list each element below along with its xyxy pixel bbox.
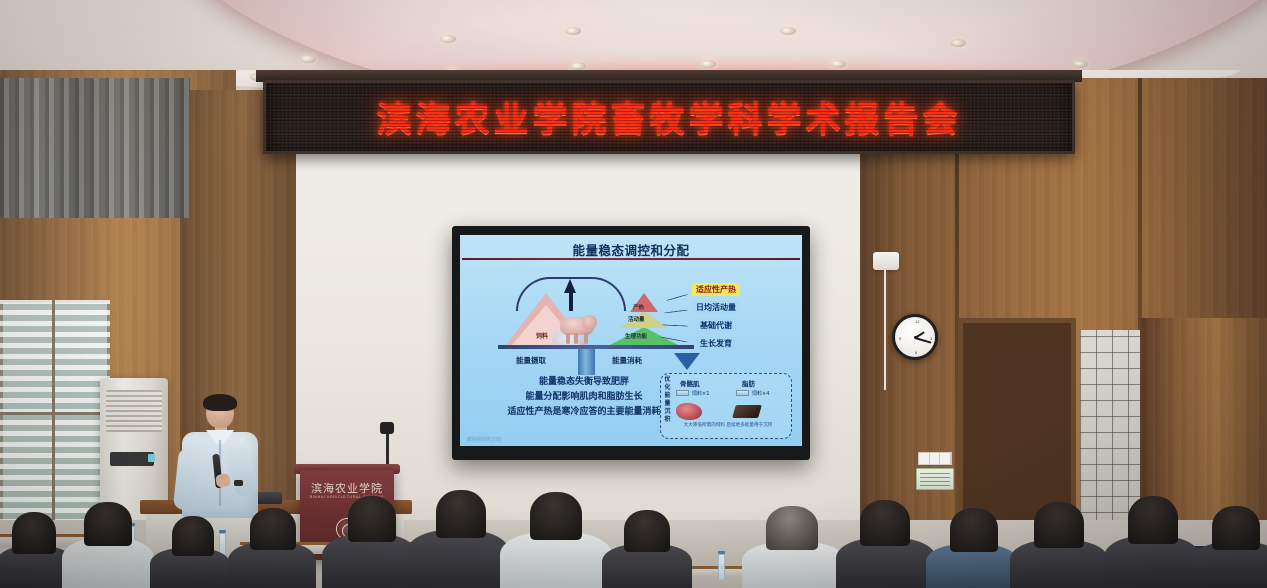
meat-cut-icon <box>676 403 702 420</box>
downlight-icon <box>570 62 586 70</box>
downlight-icon <box>780 27 796 35</box>
pig-illustration-icon <box>552 311 600 345</box>
deposition-cost-fat: 饲料×4 <box>752 390 769 397</box>
led-banner: 滨海农业学院畜牧学科学术报告会 <box>263 80 1075 154</box>
slide-title: 能量稳态调控和分配 <box>460 240 802 259</box>
door-right[interactable] <box>1140 318 1267 550</box>
down-arrow-icon <box>674 353 700 370</box>
equipment-door-frame <box>958 318 1076 550</box>
pyramid-label-middle: 活动量 <box>628 315 645 323</box>
light-switch-panel[interactable] <box>918 452 952 465</box>
factor-label-adaptive-thermogenesis: 适应性产热 <box>692 283 740 296</box>
stage-curtain <box>0 78 190 218</box>
factor-label-basal-metabolism: 基础代谢 <box>696 319 736 332</box>
podium-subtitle: BINHAI AGRICULTURAL COLLEGE <box>300 495 394 499</box>
factor-label-growth-development: 生长发育 <box>696 337 736 350</box>
wall-clock-icon: 12 3 6 9 <box>892 314 938 360</box>
fat-block-icon <box>732 405 762 418</box>
balance-beam <box>498 345 694 349</box>
clock-tick-6: 6 <box>915 350 917 355</box>
downlight-icon <box>440 35 456 43</box>
smoke-detector-icon <box>873 252 899 270</box>
ac-display-icon <box>148 454 155 462</box>
presenter-hair <box>203 394 237 411</box>
energy-intake-label: 能量摄取 <box>516 355 546 366</box>
downlight-icon <box>950 39 966 47</box>
clock-tick-9: 9 <box>899 336 901 341</box>
led-banner-text: 滨海农业学院畜牧学科学术报告会 <box>266 92 1072 143</box>
feed-triangle-label: 饲料 <box>536 331 548 340</box>
detector-cable <box>884 270 886 390</box>
slide-bullets: 能量稳态失衡导致肥胖 能量分配影响肌肉和脂肪生长 适应性产热是寒冷应答的主要能量… <box>484 375 684 420</box>
deposition-note: 大大降低所需的饲料 后续更多能量用于沉积 <box>670 423 786 429</box>
clock-center-pin <box>914 336 917 339</box>
deposition-heading-fat: 脂肪 <box>742 378 755 388</box>
wristwatch-icon <box>234 480 243 486</box>
downlight-icon <box>1072 60 1088 68</box>
downlight-icon <box>565 27 581 35</box>
slide-title-rule <box>462 258 800 260</box>
bullet-line: 适应性产热是寒冷应答的主要能量消耗 <box>484 405 684 420</box>
connector-line <box>666 294 687 301</box>
pyramid-label-bottom: 生理功能 <box>625 332 647 340</box>
window-blinds <box>0 300 110 535</box>
podium: 滨海农业学院 BINHAI AGRICULTURAL COLLEGE <box>300 470 394 560</box>
deposition-cost-muscle: 饲料×1 <box>692 390 709 397</box>
pyramid-label-top: 产热 <box>633 303 644 311</box>
tiled-wall-panel <box>1080 330 1140 545</box>
downlight-icon <box>700 60 716 68</box>
feed-chip-icon <box>736 390 749 396</box>
deposition-vertical-label: 优化能量沉积 <box>663 376 672 424</box>
bullet-line: 能量分配影响肌肉和脂肪生长 <box>484 390 684 405</box>
podium-name: 滨海农业学院 <box>300 480 394 496</box>
lecture-hall-photo: 滨海农业学院畜牧学科学术报告会 能量稳态调控和分配 饲料 <box>0 0 1267 588</box>
factor-label-daily-activity: 日均活动量 <box>692 301 740 314</box>
deposition-heading-muscle: 骨骼肌 <box>680 378 700 388</box>
clock-tick-3: 3 <box>930 336 932 341</box>
presenter <box>178 396 262 526</box>
college-emblem-icon <box>336 518 358 540</box>
projection-screen: 能量稳态调控和分配 饲料 产热 活动量 生理功能 <box>452 226 810 460</box>
slide-footer: 课题组研究方向 <box>466 436 501 443</box>
energy-expenditure-label: 能量消耗 <box>612 355 642 366</box>
window-left <box>0 300 110 535</box>
feed-chip-icon <box>676 390 689 396</box>
clock-tick-12: 12 <box>915 319 919 324</box>
slide-content: 能量稳态调控和分配 饲料 产热 活动量 生理功能 <box>460 235 802 446</box>
bullet-line: 能量稳态失衡导致肥胖 <box>484 375 684 390</box>
downlight-icon <box>830 60 846 68</box>
microphone-icon <box>380 422 394 434</box>
downlight-icon <box>300 55 316 63</box>
wall-plaque <box>916 468 954 490</box>
balance-fulcrum <box>578 349 595 375</box>
ac-grille-icon <box>106 390 162 432</box>
